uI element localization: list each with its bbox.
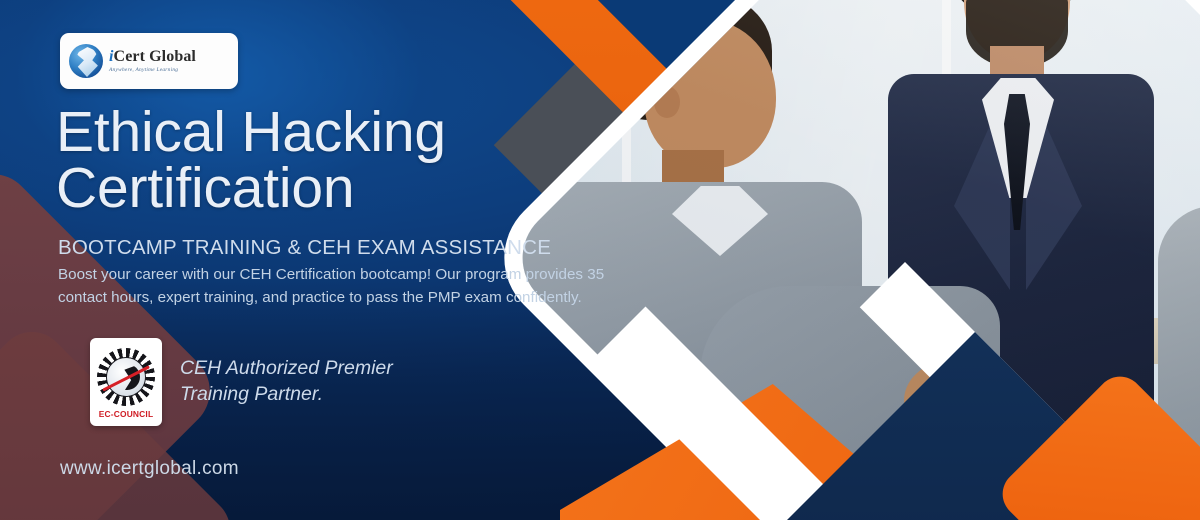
- logo-text: iCert Global Anywhere, Anytime Learning: [109, 49, 196, 73]
- ec-council-label: EC-COUNCIL: [99, 409, 154, 419]
- logo-name-rest: Cert Global: [114, 48, 196, 65]
- logo-wordmark: iCert Global: [109, 49, 196, 65]
- page-title: Ethical Hacking Certification: [56, 104, 636, 217]
- headline-line-1: Ethical Hacking: [56, 100, 446, 164]
- logo-card[interactable]: iCert Global Anywhere, Anytime Learning: [60, 33, 238, 89]
- ec-council-badge: EC-COUNCIL: [90, 338, 162, 426]
- subheading: BOOTCAMP TRAINING & CEH EXAM ASSISTANCE: [58, 236, 551, 260]
- promo-banner: iCert Global Anywhere, Anytime Learning …: [0, 0, 1200, 520]
- partner-line-2: Training Partner.: [180, 382, 393, 408]
- description-paragraph: Boost your career with our CEH Certifica…: [58, 263, 606, 309]
- accreditation-row: EC-COUNCIL CEH Authorized Premier Traini…: [90, 338, 393, 426]
- headline-line-2: Certification: [56, 160, 636, 216]
- globe-swoosh-icon: [69, 44, 103, 78]
- content-column: iCert Global Anywhere, Anytime Learning …: [0, 0, 640, 520]
- website-url[interactable]: www.icertglobal.com: [60, 458, 239, 480]
- ec-council-emblem-icon: [97, 348, 155, 406]
- partner-text: CEH Authorized Premier Training Partner.: [180, 356, 393, 407]
- partner-line-1: CEH Authorized Premier: [180, 356, 393, 382]
- logo-tagline: Anywhere, Anytime Learning: [109, 68, 196, 73]
- red-slash-icon: [102, 365, 150, 391]
